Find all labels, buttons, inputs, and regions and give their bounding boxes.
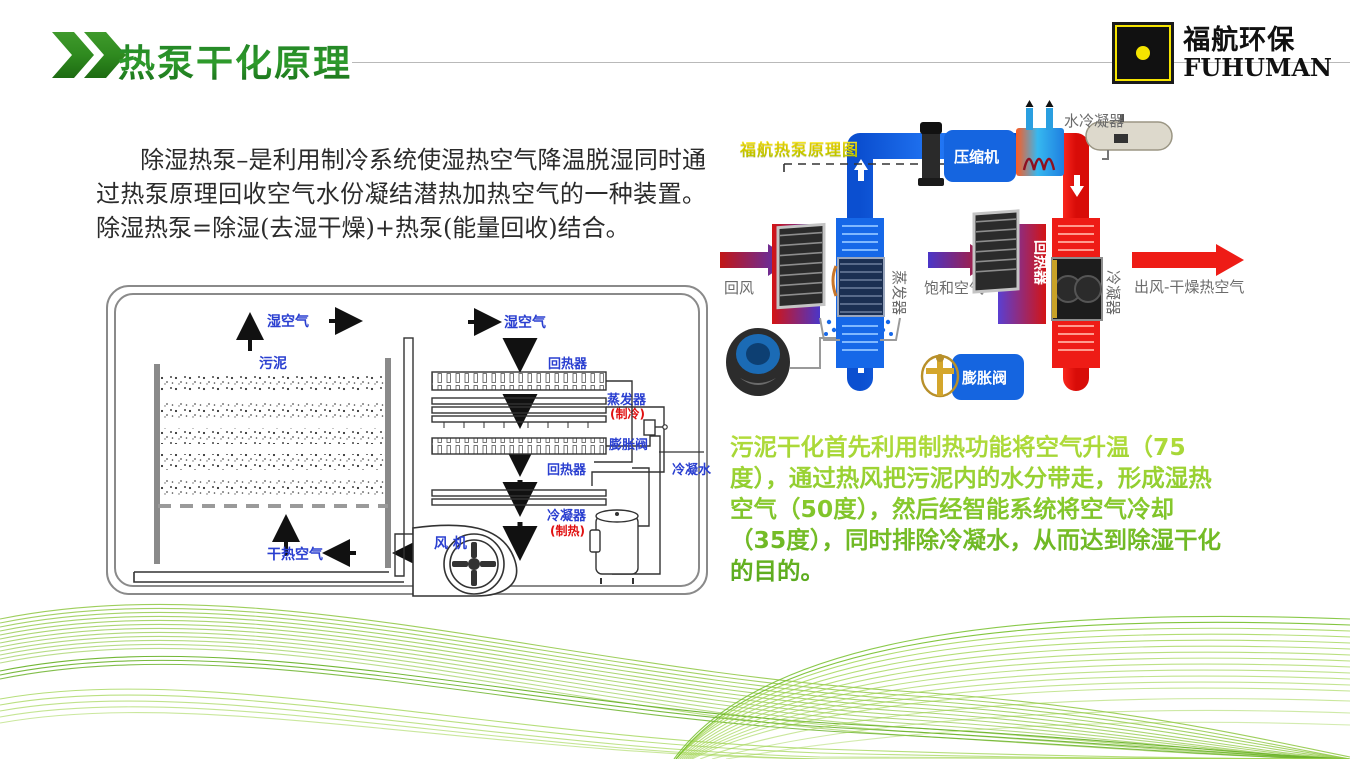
page-title: 热泵干化原理 (118, 33, 352, 87)
hp-label-outlet-air: 出风-干燥热空气 (1134, 278, 1244, 296)
sludge-dryer-schematic: 湿空气 污泥 干热空气 湿空气 回热器 (104, 276, 714, 601)
dryer-label-condenser: 冷凝器 (547, 508, 587, 524)
slide-header: 热泵干化原理 福航环保 FUHUMAN (0, 0, 1350, 100)
company-logo: 福航环保 FUHUMAN (1112, 22, 1332, 84)
intro-paragraph: 除湿热泵–是利用制冷系统使湿热空气降温脱湿同时通过热泵原理回收空气水份凝结潜热加… (96, 143, 706, 245)
dryer-label-dry-hot-air: 干热空气 (267, 546, 323, 563)
dryer-label-humid-air-right: 湿空气 (504, 314, 546, 331)
logo-english-name: FUHUMAN (1183, 56, 1332, 80)
dryer-label-condenser-sub: (制热) (550, 523, 585, 538)
dryer-label-evaporator-sub: (制冷) (610, 406, 645, 421)
dryer-label-regenerator-bottom: 回热器 (547, 462, 587, 478)
intro-text: 除湿热泵–是利用制冷系统使湿热空气降温脱湿同时通过热泵原理回收空气水份凝结潜热加… (96, 146, 706, 242)
dryer-label-evaporator: 蒸发器 (607, 392, 647, 408)
hp-label-compressor: 压缩机 (954, 148, 999, 166)
hp-label-condenser: 冷凝器 (1104, 270, 1122, 315)
green-description-text: 污泥干化首先利用制热功能将空气升温（75度），通过热风把污泥内的水分带走，形成湿… (730, 432, 1230, 587)
dryer-label-sludge: 污泥 (259, 355, 287, 372)
heat-pump-principle-schematic: 蒸发器 冷凝器 回风 (716, 100, 1344, 400)
hp-label-expansion-valve: 膨胀阀 (962, 369, 1007, 387)
hp-diagram-title: 福航热泵原理图 (740, 136, 859, 160)
dryer-label-regenerator-top: 回热器 (548, 356, 588, 372)
slide-root: 热泵干化原理 福航环保 FUHUMAN 除湿热泵–是利用制冷系统使湿热空气降温脱… (0, 0, 1350, 759)
fuhuman-square-logo-icon (1112, 22, 1174, 84)
dryer-label-expansion-valve: 膨胀阀 (608, 437, 648, 453)
hp-label-return-air: 回风 (724, 279, 754, 297)
dryer-label-humid-air-left: 湿空气 (267, 313, 309, 330)
logo-chinese-name: 福航环保 (1183, 27, 1332, 54)
hp-label-water-condenser: 水冷凝器 (1064, 112, 1124, 130)
hp-label-evaporator: 蒸发器 (890, 270, 908, 315)
dryer-label-condensate-water: 冷凝水 (672, 462, 712, 478)
dryer-label-fan: 风 机 (434, 535, 467, 552)
hp-label-regenerator: 回热器 (1032, 240, 1050, 286)
